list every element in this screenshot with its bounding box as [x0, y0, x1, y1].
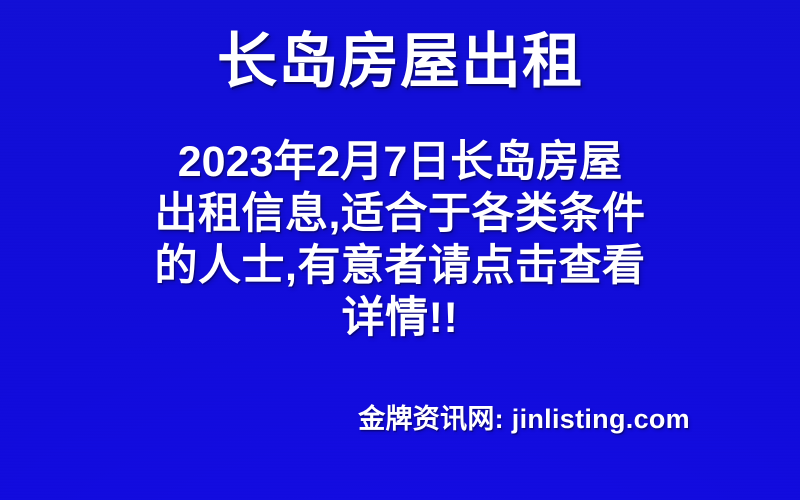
site-attribution: 金牌资讯网: jinlisting.com: [358, 402, 690, 436]
page-title: 长岛房屋出租: [0, 26, 800, 98]
body-line-3: 的人士,有意者请点击查看: [0, 240, 800, 292]
body-line-1: 2023年2月7日长岛房屋: [0, 136, 800, 188]
promo-banner: 长岛房屋出租 2023年2月7日长岛房屋 出租信息,适合于各类条件 的人士,有意…: [0, 0, 800, 500]
body-text-block: 2023年2月7日长岛房屋 出租信息,适合于各类条件 的人士,有意者请点击查看 …: [0, 136, 800, 344]
body-line-4: 详情!!: [0, 292, 800, 344]
body-line-2: 出租信息,适合于各类条件: [0, 188, 800, 240]
